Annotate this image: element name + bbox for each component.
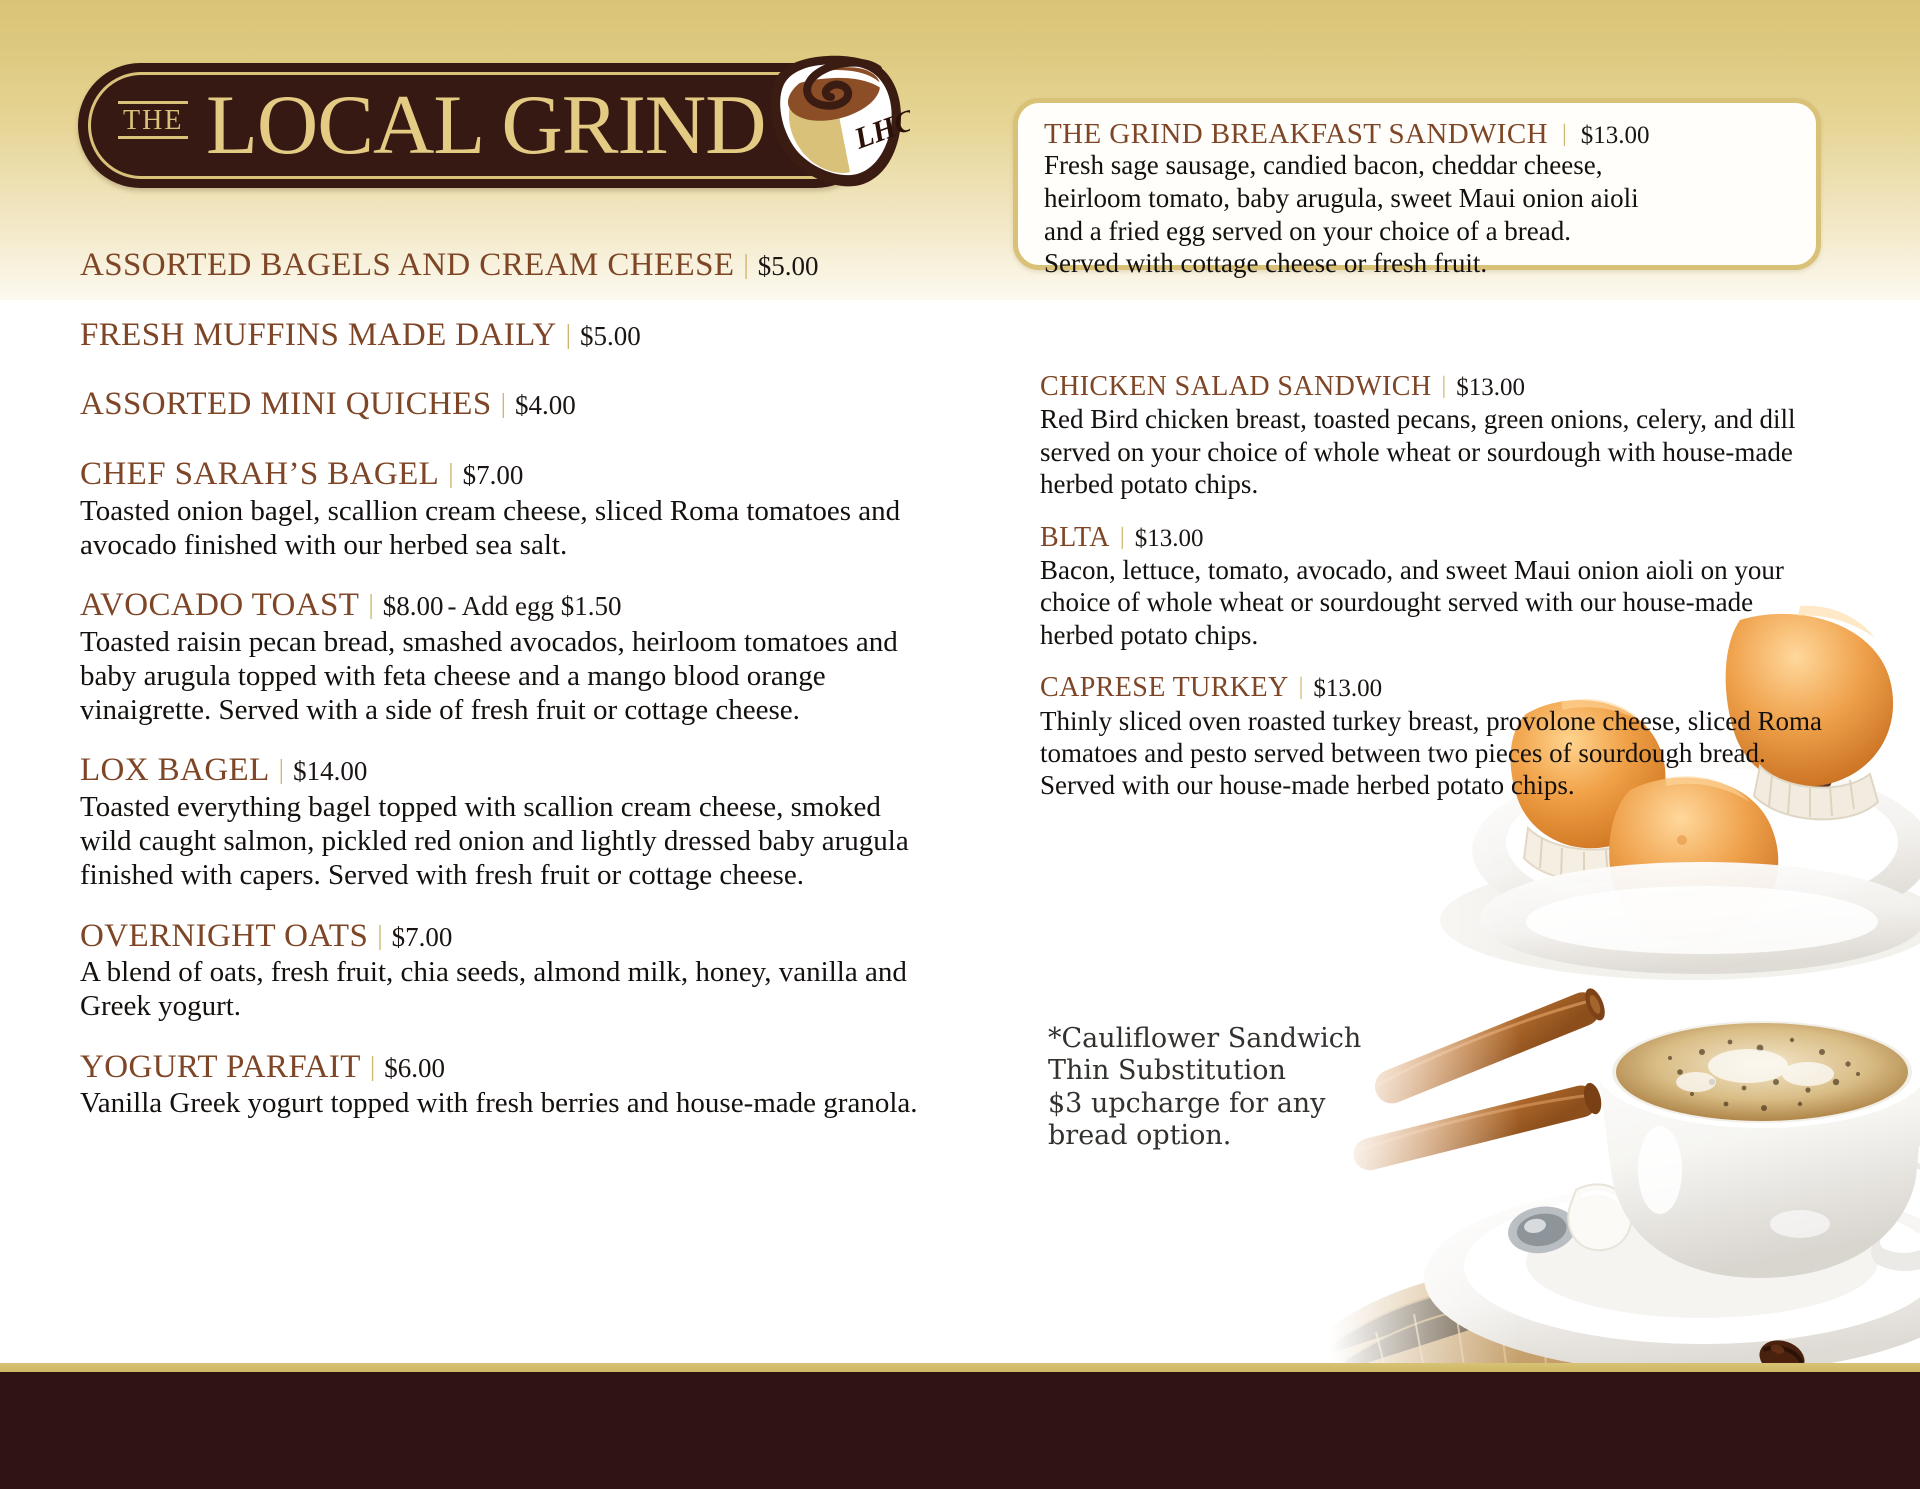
right-menu-item-price: $13.00 [1135,525,1204,552]
right-menu-item-separator: | [1431,373,1456,399]
left-menu-item-price: $4.00 [515,390,576,420]
left-menu-item-head: LOX BAGEL|$14.00 [80,753,920,788]
left-menu-item-title: YOGURT PARFAIT [80,1049,361,1085]
left-menu-item: YOGURT PARFAIT|$6.00Vanilla Greek yogurt… [80,1050,920,1121]
right-menu-item-title: CAPRESE TURKEY [1040,672,1289,703]
left-menu-item-separator: | [439,458,462,488]
left-menu-item-title: CHEF SARAH’S BAGEL [80,456,439,492]
right-menu-item-price: $13.00 [1313,675,1382,702]
left-menu-item: LOX BAGEL|$14.00Toasted everything bagel… [80,753,920,892]
left-menu-column: ASSORTED BAGELS AND CREAM CHEESE|$5.00FR… [80,248,920,1147]
featured-menu-item-card: THE GRIND BREAKFAST SANDWICH | $13.00 Fr… [1013,98,1821,270]
left-menu-item-price: $7.00 [392,922,453,952]
logo-brand-name: LOCAL GRIND [206,77,766,173]
right-menu-item-head: CHICKEN SALAD SANDWICH|$13.00 [1040,372,1830,401]
left-menu-item-description: A blend of oats, fresh fruit, chia seeds… [80,955,920,1023]
right-menu-item-description: Thinly sliced oven roasted turkey breast… [1040,705,1830,802]
left-menu-item: ASSORTED BAGELS AND CREAM CHEESE|$5.00 [80,248,920,283]
footnote-line-0: *Cauliflower Sandwich [1048,1023,1428,1055]
left-menu-item: OVERNIGHT OATS|$7.00 A blend of oats, fr… [80,919,920,1024]
left-menu-item-head: CHEF SARAH’S BAGEL|$7.00 [80,457,920,492]
right-menu-item-title: CHICKEN SALAD SANDWICH [1040,371,1431,402]
left-menu-item: AVOCADO TOAST|$8.00 - Add egg $1.50Toast… [80,588,920,727]
left-menu-item-title: OVERNIGHT OATS [80,918,368,954]
featured-item-description-line-2: and a fried egg served on your choice of… [1044,216,1792,248]
footer-bar [0,1363,1920,1489]
featured-item-separator: | [1552,121,1577,147]
left-menu-item-head: ASSORTED BAGELS AND CREAM CHEESE|$5.00 [80,248,920,283]
right-menu-item-price: $13.00 [1456,374,1525,401]
left-menu-item-price: $14.00 [293,756,367,786]
left-menu-item-separator: | [361,1051,384,1081]
left-menu-item-price: $6.00 [384,1053,445,1083]
left-menu-item-price: $8.00 [383,591,444,621]
left-menu-item: CHEF SARAH’S BAGEL|$7.00Toasted onion ba… [80,457,920,562]
right-menu-column: CHICKEN SALAD SANDWICH|$13.00Red Bird ch… [1040,372,1830,824]
left-menu-item-separator: | [359,589,382,619]
featured-item-price: $13.00 [1581,122,1650,149]
left-menu-item-extra: - Add egg $1.50 [448,591,622,621]
left-menu-item-head: YOGURT PARFAIT|$6.00 [80,1050,920,1085]
left-menu-item-price: $5.00 [580,321,641,351]
left-menu-item-title: LOX BAGEL [80,752,270,788]
featured-item-description-line-1: heirloom tomato, baby arugula, sweet Mau… [1044,183,1792,215]
right-menu-item: BLTA|$13.00Bacon, lettuce, tomato, avoca… [1040,523,1830,652]
left-menu-item-head: AVOCADO TOAST|$8.00 - Add egg $1.50 [80,588,920,623]
cauliflower-substitution-footnote: *Cauliflower Sandwich Thin Substitution … [1048,1023,1428,1153]
featured-item-title: THE GRIND BREAKFAST SANDWICH [1044,118,1548,150]
right-menu-item-head: BLTA|$13.00 [1040,523,1830,552]
right-menu-item-description: Bacon, lettuce, tomato, avocado, and swe… [1040,554,1830,651]
left-menu-item-separator: | [492,388,515,418]
right-menu-item-title: BLTA [1040,522,1110,553]
left-menu-item-title: ASSORTED MINI QUICHES [80,386,492,422]
left-menu-item-head: ASSORTED MINI QUICHES|$4.00 [80,387,920,422]
coffee-cup-logo-icon: LHC [760,45,910,205]
brand-logo-plate: THE LOCAL GRIND [78,63,878,188]
left-menu-item-price: $7.00 [463,460,524,490]
left-menu-item-separator: | [368,920,391,950]
right-menu-item-head: CAPRESE TURKEY|$13.00 [1040,673,1830,702]
footnote-line-2: $3 upcharge for any [1048,1088,1428,1120]
left-menu-item-separator: | [734,249,757,279]
left-menu-item-title: AVOCADO TOAST [80,587,359,623]
right-menu-item: CHICKEN SALAD SANDWICH|$13.00Red Bird ch… [1040,372,1830,501]
left-menu-item: ASSORTED MINI QUICHES|$4.00 [80,387,920,422]
featured-item-description-line-0: Fresh sage sausage, candied bacon, chedd… [1044,150,1792,182]
left-menu-item-title: FRESH MUFFINS MADE DAILY [80,317,557,353]
featured-item-description-line-3: Served with cottage cheese or fresh frui… [1044,248,1792,280]
left-menu-item-price: $5.00 [758,251,819,281]
left-menu-item-head: OVERNIGHT OATS|$7.00 [80,919,920,954]
right-menu-item-separator: | [1289,674,1314,700]
featured-item-head: THE GRIND BREAKFAST SANDWICH | $13.00 [1044,119,1792,149]
left-menu-item-separator: | [270,754,293,784]
left-menu-item-description: Vanilla Greek yogurt topped with fresh b… [80,1086,920,1120]
left-menu-item-description: Toasted onion bagel, scallion cream chee… [80,494,920,562]
logo-the-label: THE [118,101,188,139]
right-menu-item-separator: | [1110,524,1135,550]
left-menu-item-separator: | [557,319,580,349]
left-menu-item-title: ASSORTED BAGELS AND CREAM CHEESE [80,247,734,283]
footer-gold-stripe [0,1363,1920,1372]
footnote-line-3: bread option. [1048,1120,1428,1152]
left-menu-item-description: Toasted raisin pecan bread, smashed avoc… [80,625,920,728]
left-menu-item-description: Toasted everything bagel topped with sca… [80,790,920,893]
right-menu-item: CAPRESE TURKEY|$13.00Thinly sliced oven … [1040,673,1830,802]
left-menu-item: FRESH MUFFINS MADE DAILY|$5.00 [80,318,920,353]
right-menu-item-description: Red Bird chicken breast, toasted pecans,… [1040,403,1830,500]
left-menu-item-head: FRESH MUFFINS MADE DAILY|$5.00 [80,318,920,353]
footnote-line-1: Thin Substitution [1048,1055,1428,1087]
